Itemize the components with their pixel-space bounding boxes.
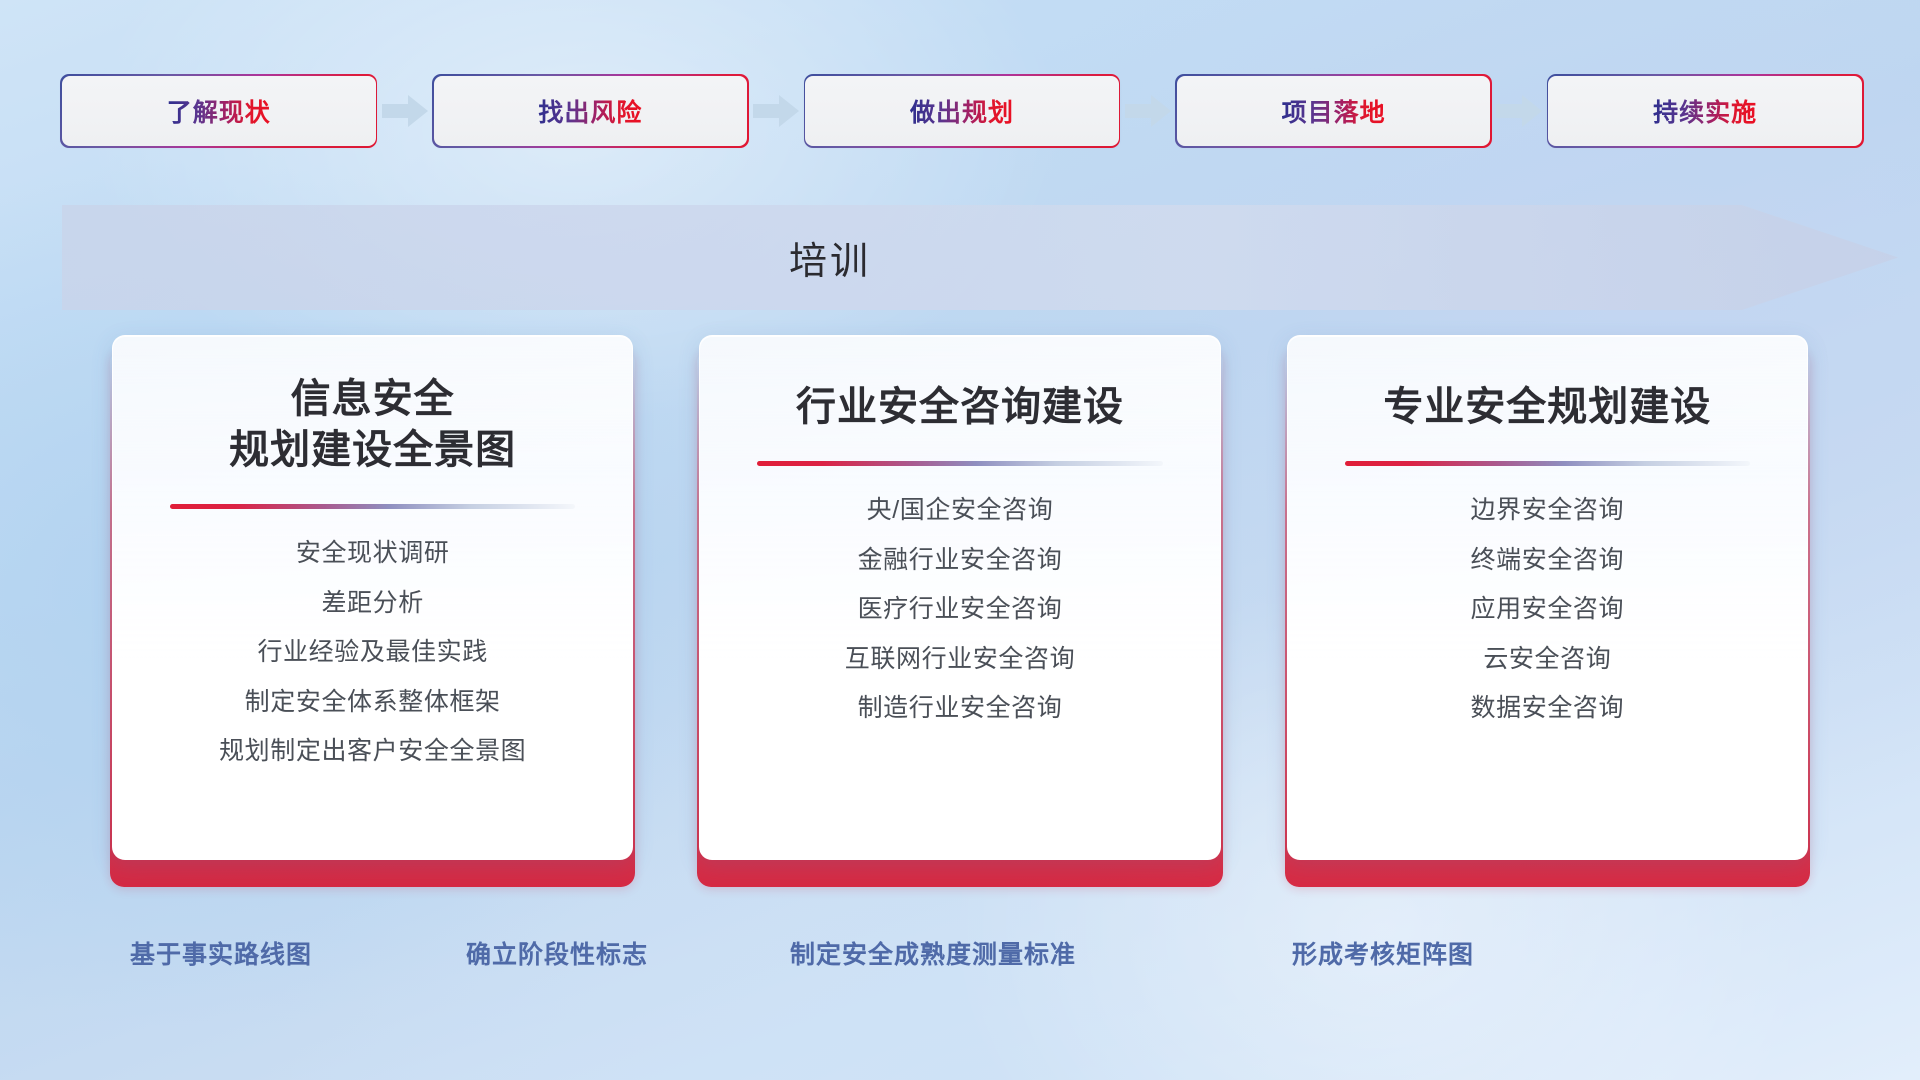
card-list: 安全现状调研 差距分析 行业经验及最佳实践 制定安全体系整体框架 规划制定出客户… [113, 535, 632, 771]
card-wrap-2: 行业安全咨询建设 央/国企安全咨询 金融行业安全咨询 医疗行业安全咨询 互联网行… [697, 335, 1222, 880]
list-item: 安全现状调研 [296, 535, 450, 573]
card-divider [170, 504, 575, 509]
list-item: 制定安全体系整体框架 [245, 684, 501, 722]
card-wrap-1: 信息安全 规划建设全景图 安全现状调研 差距分析 行业经验及最佳实践 制定安全体… [110, 335, 635, 880]
card-divider [1345, 461, 1750, 466]
caption-1: 基于事实路线图 [130, 935, 312, 971]
arrow-right-icon [747, 94, 805, 128]
list-item: 金融行业安全咨询 [858, 542, 1063, 580]
list-item: 行业经验及最佳实践 [257, 634, 487, 672]
arrow-right-icon [1490, 94, 1548, 128]
solution-cards: 信息安全 规划建设全景图 安全现状调研 差距分析 行业经验及最佳实践 制定安全体… [110, 335, 1810, 880]
list-item: 数据安全咨询 [1471, 690, 1625, 728]
list-item: 边界安全咨询 [1471, 492, 1625, 530]
solution-card-2[interactable]: 行业安全咨询建设 央/国企安全咨询 金融行业安全咨询 医疗行业安全咨询 互联网行… [699, 335, 1220, 860]
flow-step-2[interactable]: 找出风险 [434, 76, 748, 146]
card-title: 信息安全 规划建设全景图 [229, 374, 516, 476]
card-list: 央/国企安全咨询 金融行业安全咨询 医疗行业安全咨询 互联网行业安全咨询 制造行… [700, 492, 1219, 728]
flow-step-1[interactable]: 了解现状 [62, 76, 376, 146]
training-band-label: 培训 [0, 205, 1660, 310]
list-item: 终端安全咨询 [1471, 542, 1625, 580]
list-item: 央/国企安全咨询 [867, 492, 1054, 530]
list-item: 差距分析 [321, 585, 423, 623]
list-item: 互联网行业安全咨询 [845, 641, 1075, 679]
caption-2: 确立阶段性标志 [466, 935, 648, 971]
list-item: 医疗行业安全咨询 [858, 591, 1063, 629]
training-label-text: 培训 [789, 230, 871, 285]
flow-step-label: 项目落地 [1282, 93, 1386, 129]
list-item: 规划制定出客户安全全景图 [219, 733, 526, 771]
caption-4: 形成考核矩阵图 [1292, 935, 1474, 971]
bottom-captions: 基于事实路线图 确立阶段性标志 制定安全成熟度测量标准 形成考核矩阵图 [0, 935, 1920, 981]
list-item: 制造行业安全咨询 [858, 690, 1063, 728]
arrow-right-icon [376, 94, 434, 128]
arrow-right-icon [1119, 94, 1177, 128]
flow-step-label: 找出风险 [538, 93, 642, 129]
flow-step-3[interactable]: 做出规划 [805, 76, 1119, 146]
card-list: 边界安全咨询 终端安全咨询 应用安全咨询 云安全咨询 数据安全咨询 [1288, 492, 1807, 728]
solution-card-3[interactable]: 专业安全规划建设 边界安全咨询 终端安全咨询 应用安全咨询 云安全咨询 数据安全… [1287, 335, 1808, 860]
card-title: 行业安全咨询建设 [796, 382, 1124, 433]
list-item: 应用安全咨询 [1471, 591, 1625, 629]
infographic-canvas: 了解现状 找出风险 做出规划 项目落地 [0, 0, 1920, 1080]
flow-step-label: 了解现状 [167, 93, 271, 129]
flow-step-4[interactable]: 项目落地 [1177, 76, 1491, 146]
caption-3: 制定安全成熟度测量标准 [790, 935, 1076, 971]
flow-step-label: 持续实施 [1653, 93, 1757, 129]
card-divider [757, 461, 1162, 466]
card-wrap-3: 专业安全规划建设 边界安全咨询 终端安全咨询 应用安全咨询 云安全咨询 数据安全… [1285, 335, 1810, 880]
solution-card-1[interactable]: 信息安全 规划建设全景图 安全现状调研 差距分析 行业经验及最佳实践 制定安全体… [112, 335, 633, 860]
flow-step-5[interactable]: 持续实施 [1548, 76, 1862, 146]
process-flow-row: 了解现状 找出风险 做出规划 项目落地 [62, 76, 1862, 146]
flow-step-label: 做出规划 [910, 93, 1014, 129]
card-title: 专业安全规划建设 [1383, 382, 1711, 433]
list-item: 云安全咨询 [1483, 641, 1611, 679]
